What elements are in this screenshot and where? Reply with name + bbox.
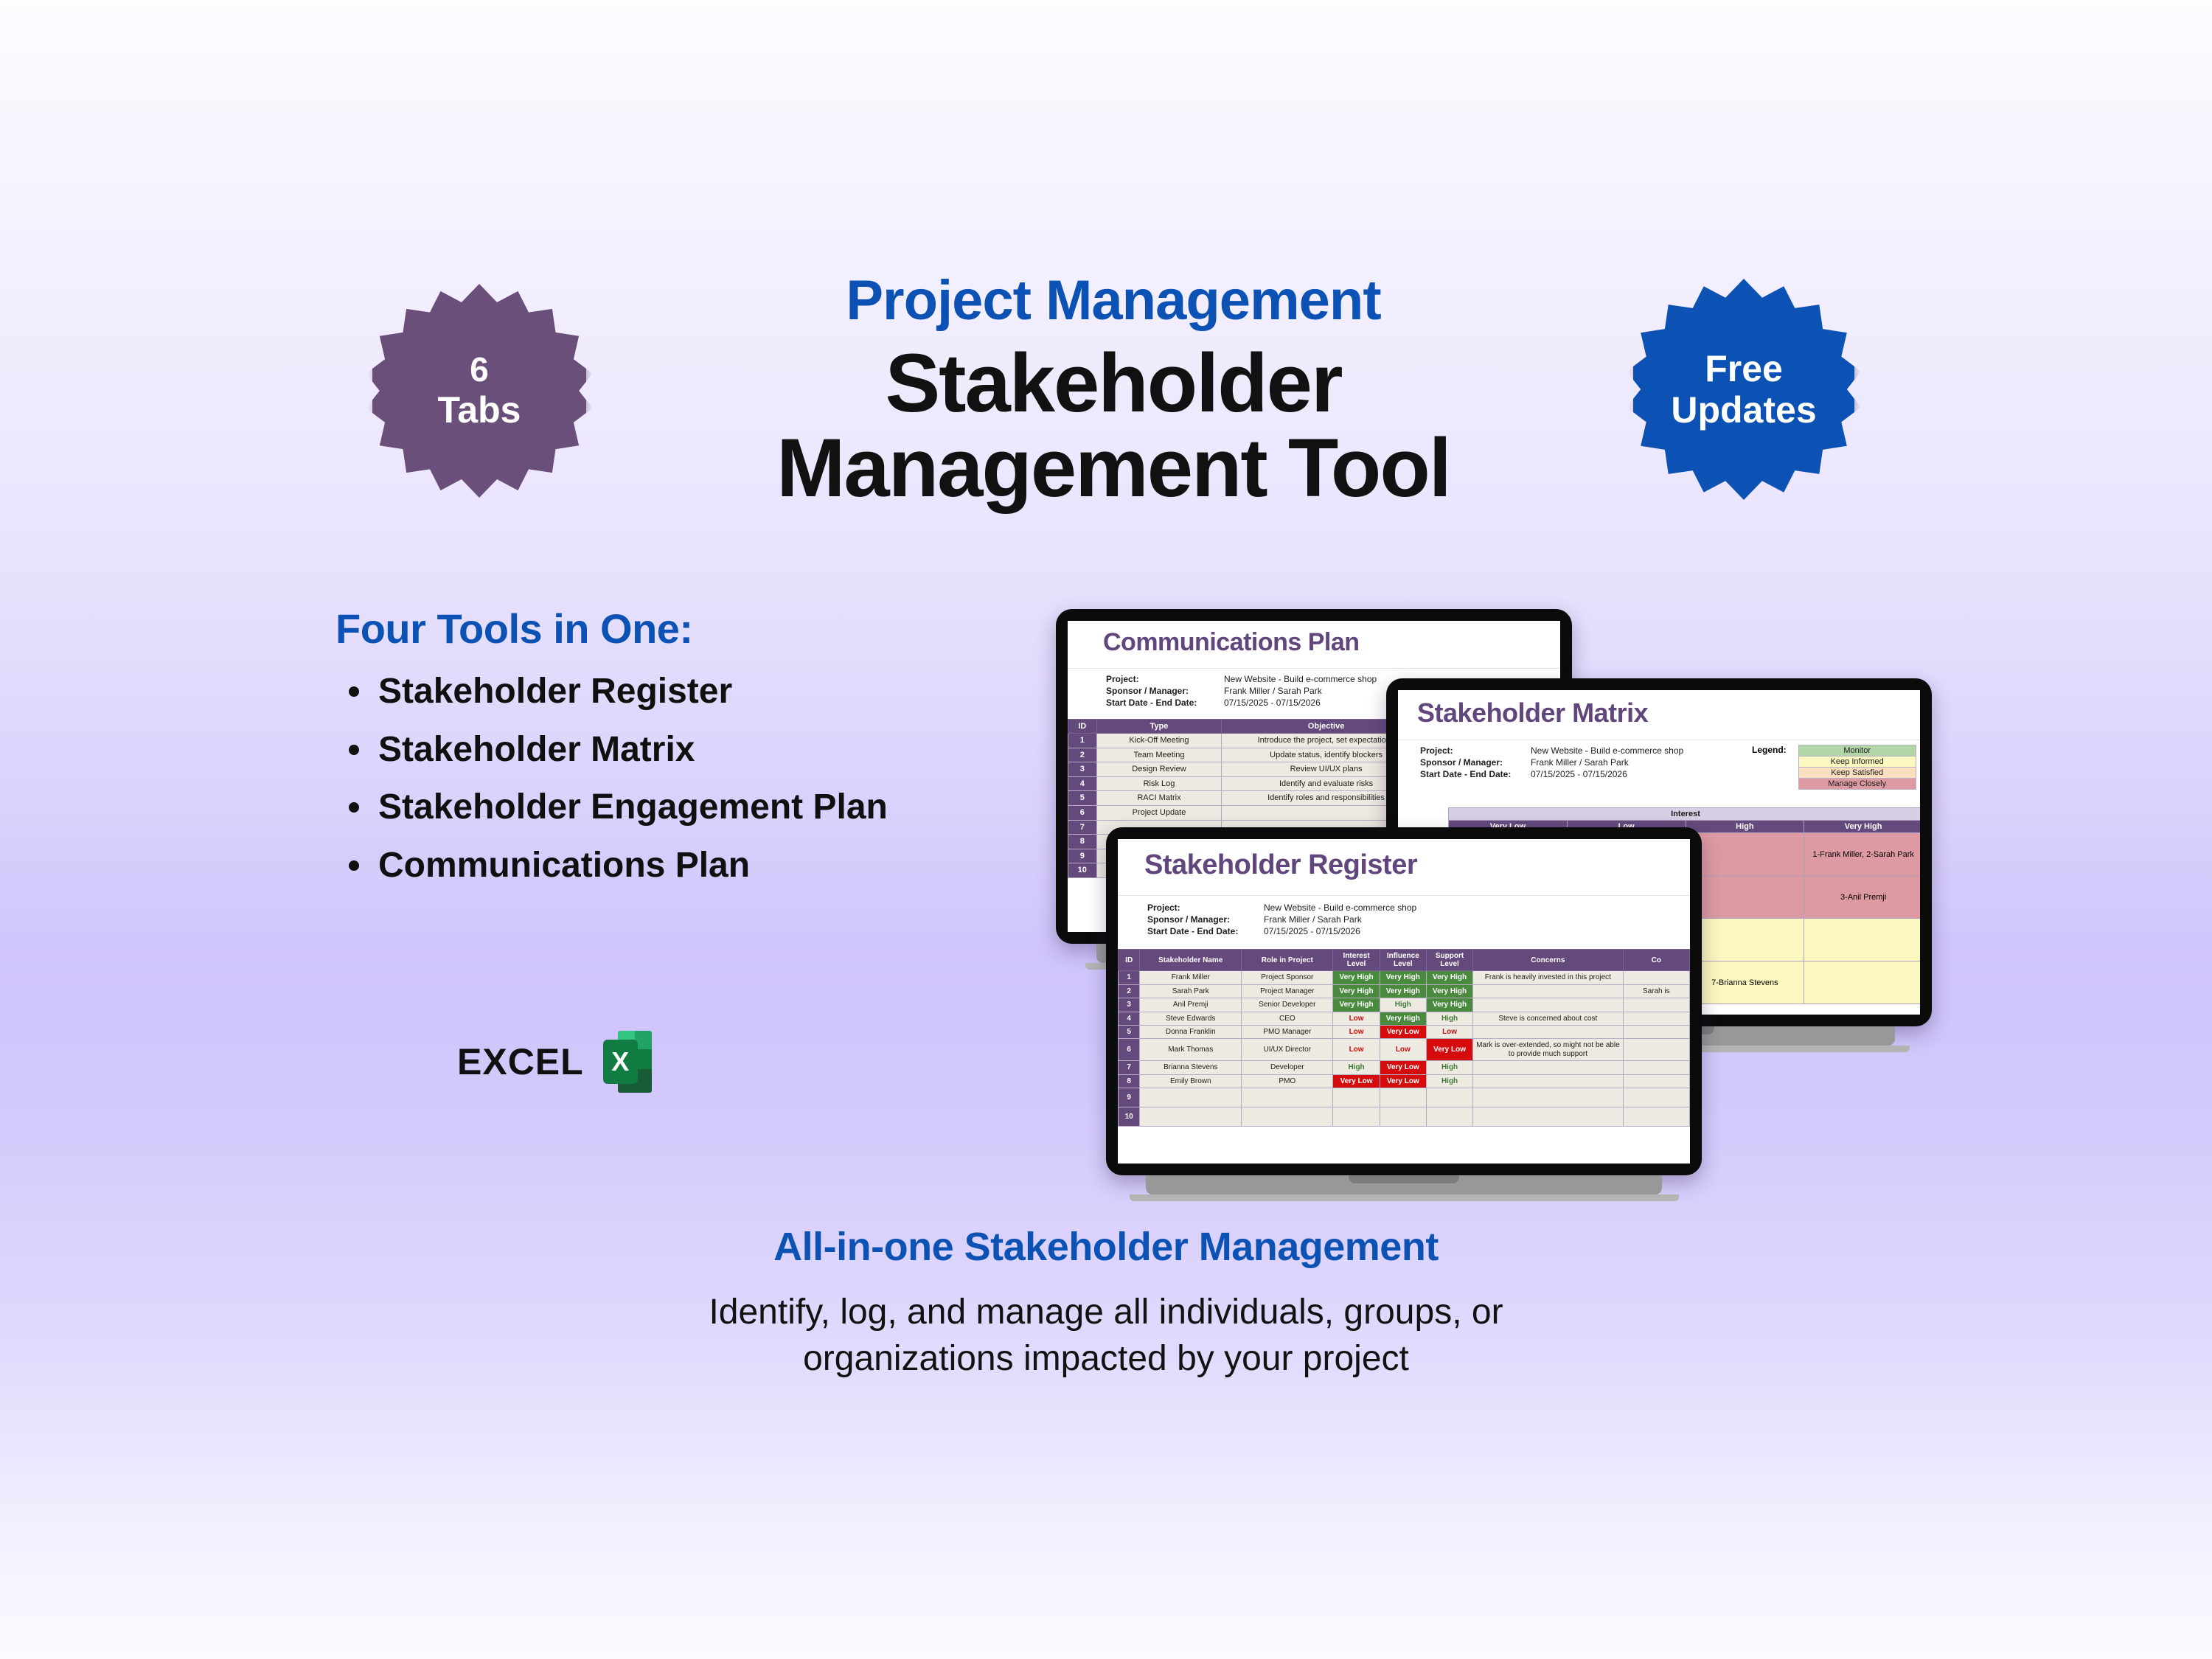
feature-label: Stakeholder Matrix: [378, 730, 695, 769]
cell-support: [1426, 1107, 1472, 1126]
badge-6-tabs: 6 Tabs: [372, 284, 586, 498]
cell-concerns: [1473, 1025, 1623, 1038]
matrix-meta: Project: New Website - Build e-commerce …: [1417, 745, 1727, 780]
cell-name: Mark Thomas: [1140, 1039, 1242, 1061]
meta-value-dates: 07/15/2025 - 07/15/2026: [1221, 697, 1380, 709]
meta-value-dates: 07/15/2025 - 07/15/2026: [1528, 768, 1727, 780]
col-concerns: Concerns: [1473, 950, 1623, 971]
cell-name: [1140, 1107, 1242, 1126]
cell-extra: [1623, 1107, 1689, 1126]
cell-extra: [1623, 1012, 1689, 1025]
cell-id: 2: [1119, 984, 1140, 998]
header-eyebrow: Project Management: [627, 273, 1600, 329]
excel-label: EXCEL: [457, 1040, 584, 1083]
badge-tabs-count: 6: [470, 351, 489, 389]
meta-label-project: Project:: [1144, 902, 1261, 914]
cell-role: PMO: [1242, 1074, 1333, 1088]
table-row: 6Mark ThomasUI/UX DirectorLowLowVery Low…: [1119, 1039, 1690, 1061]
meta-label-dates: Start Date - End Date:: [1144, 925, 1261, 937]
page-title-line1: Stakeholder: [885, 337, 1341, 429]
matrix-cell: [1686, 876, 1804, 919]
meta-value-project: New Website - Build e-commerce shop: [1528, 745, 1727, 757]
cell-influence: Very Low: [1380, 1074, 1426, 1088]
cell-type: RACI Matrix: [1096, 791, 1222, 806]
register-title: Stakeholder Register: [1118, 846, 1690, 887]
cell-interest: Very High: [1333, 998, 1380, 1012]
col-id: ID: [1119, 950, 1140, 971]
cell-role: [1242, 1088, 1333, 1107]
col-support: Support Level: [1426, 950, 1472, 971]
cell-interest: Very High: [1333, 971, 1380, 984]
badge-free-updates: Free Updates: [1633, 279, 1854, 500]
page-title-line2: Management Tool: [627, 424, 1600, 513]
cell-id: 5: [1068, 791, 1097, 806]
cell-type: Risk Log: [1096, 776, 1222, 791]
matrix-cell: [1804, 961, 1920, 1004]
meta-label-project: Project:: [1103, 673, 1221, 685]
cell-influence: [1380, 1107, 1426, 1126]
features-list: Stakeholder Register Stakeholder Matrix …: [335, 670, 1073, 887]
matrix-cell: 1-Frank Miller, 2-Sarah Park: [1804, 833, 1920, 876]
register-table: ID Stakeholder Name Role in Project Inte…: [1118, 949, 1690, 1127]
cell-concerns: [1473, 1107, 1623, 1126]
cell-support: [1426, 1088, 1472, 1107]
cell-influence: High: [1380, 998, 1426, 1012]
cell-type: Kick-Off Meeting: [1096, 734, 1222, 748]
matrix-cell: [1804, 919, 1920, 961]
excel-x-letter: X: [603, 1040, 638, 1084]
table-row: 10: [1119, 1107, 1690, 1126]
cell-id: 6: [1119, 1039, 1140, 1061]
page-title: Stakeholder Management Tool: [627, 339, 1600, 513]
laptop-base: [1146, 1175, 1662, 1194]
matrix-tick-high: High: [1686, 821, 1804, 833]
cell-concerns: [1473, 984, 1623, 998]
page-header: Project Management Stakeholder Managemen…: [627, 273, 1600, 513]
cell-id: 1: [1068, 734, 1097, 748]
cell-role: UI/UX Director: [1242, 1039, 1333, 1061]
cell-id: 9: [1119, 1088, 1140, 1107]
cell-influence: Very Low: [1380, 1061, 1426, 1074]
features-title: Four Tools in One:: [335, 605, 1073, 653]
cell-id: 8: [1068, 835, 1097, 849]
matrix-legend-label: Legend:: [1752, 745, 1787, 755]
footer-subline-2: organizations impacted by your project: [0, 1335, 2212, 1382]
cell-id: 4: [1068, 776, 1097, 791]
cell-id: 5: [1119, 1025, 1140, 1038]
cell-type: Design Review: [1096, 762, 1222, 777]
matrix-cell: [1686, 833, 1804, 876]
cell-support: Very High: [1426, 971, 1472, 984]
cell-id: 7: [1119, 1061, 1140, 1074]
cell-name: Frank Miller: [1140, 971, 1242, 984]
col-influence: Influence Level: [1380, 950, 1426, 971]
cell-support: High: [1426, 1012, 1472, 1025]
cell-extra: [1623, 1074, 1689, 1088]
cell-extra: [1623, 1039, 1689, 1061]
meta-label-dates: Start Date - End Date:: [1103, 697, 1221, 709]
badge-tabs-label: Tabs: [438, 389, 521, 431]
cell-name: Steve Edwards: [1140, 1012, 1242, 1025]
matrix-cell: 7-Brianna Stevens: [1686, 961, 1804, 1004]
legend-item-monitor: Monitor: [1798, 745, 1916, 757]
cell-concerns: [1473, 1074, 1623, 1088]
comms-plan-title: Communications Plan: [1068, 627, 1560, 661]
cell-support: High: [1426, 1074, 1472, 1088]
cell-id: 6: [1068, 805, 1097, 820]
cell-id: 3: [1068, 762, 1097, 777]
matrix-axis-x-label: Interest: [1449, 808, 1921, 821]
cell-id: 4: [1119, 1012, 1140, 1025]
meta-label-project: Project:: [1417, 745, 1528, 757]
cell-name: Anil Premji: [1140, 998, 1242, 1012]
cell-id: 10: [1119, 1107, 1140, 1126]
cell-name: Emily Brown: [1140, 1074, 1242, 1088]
cell-extra: [1623, 1088, 1689, 1107]
cell-concerns: [1473, 1088, 1623, 1107]
table-row: 2Sarah ParkProject ManagerVery HighVery …: [1119, 984, 1690, 998]
meta-label-sponsor: Sponsor / Manager:: [1144, 914, 1261, 925]
cell-support: Low: [1426, 1025, 1472, 1038]
meta-label-sponsor: Sponsor / Manager:: [1417, 757, 1528, 768]
cell-name: Brianna Stevens: [1140, 1061, 1242, 1074]
cell-influence: Very Low: [1380, 1025, 1426, 1038]
badge-updates-line2: Updates: [1671, 389, 1816, 431]
cell-interest: Very High: [1333, 984, 1380, 998]
laptop-base-shelf: [1130, 1194, 1679, 1201]
cell-support: Very High: [1426, 984, 1472, 998]
register-meta: Project: New Website - Build e-commerce …: [1144, 902, 1419, 937]
matrix-legend: Monitor Keep Informed Keep Satisfied Man…: [1798, 745, 1916, 790]
table-row: 1Frank MillerProject SponsorVery HighVer…: [1119, 971, 1690, 984]
laptop-stakeholder-register: Stakeholder Register Project: New Websit…: [1106, 827, 1702, 1201]
cell-interest: [1333, 1107, 1380, 1126]
legend-item-keep-satisfied: Keep Satisfied: [1798, 768, 1916, 779]
cell-extra: [1623, 1025, 1689, 1038]
matrix-tick-very-high: Very High: [1804, 821, 1920, 833]
list-item: Stakeholder Engagement Plan: [378, 786, 1073, 829]
table-row: 7Brianna StevensDeveloperHighVery LowHig…: [1119, 1061, 1690, 1074]
feature-label: Stakeholder Register: [378, 672, 732, 711]
cell-type: Project Update: [1096, 805, 1222, 820]
matrix-axis-row: Interest: [1415, 808, 1921, 821]
cell-influence: Very High: [1380, 984, 1426, 998]
bullet-icon: [349, 686, 359, 697]
cell-extra: Sarah is: [1623, 984, 1689, 998]
cell-influence: Very High: [1380, 1012, 1426, 1025]
bullet-icon: [349, 860, 359, 871]
cell-interest: Very Low: [1333, 1074, 1380, 1088]
badge-updates-line1: Free: [1705, 348, 1783, 389]
cell-support: High: [1426, 1061, 1472, 1074]
cell-role: Project Sponsor: [1242, 971, 1333, 984]
cell-support: Very High: [1426, 998, 1472, 1012]
meta-value-sponsor: Frank Miller / Sarah Park: [1221, 685, 1380, 697]
table-row: 3Anil PremjiSenior DeveloperVery HighHig…: [1119, 998, 1690, 1012]
cell-interest: [1333, 1088, 1380, 1107]
cell-interest: Low: [1333, 1025, 1380, 1038]
cell-id: 10: [1068, 863, 1097, 878]
cell-interest: High: [1333, 1061, 1380, 1074]
cell-role: Senior Developer: [1242, 998, 1333, 1012]
cell-influence: [1380, 1088, 1426, 1107]
feature-label: Stakeholder Engagement Plan: [378, 787, 888, 827]
legend-item-keep-informed: Keep Informed: [1798, 757, 1916, 768]
footer-section: All-in-one Stakeholder Management Identi…: [0, 1224, 2212, 1382]
meta-label-dates: Start Date - End Date:: [1417, 768, 1528, 780]
cell-name: Sarah Park: [1140, 984, 1242, 998]
feature-label: Communications Plan: [378, 846, 750, 885]
comms-plan-meta: Project: New Website - Build e-commerce …: [1103, 673, 1380, 709]
col-extra: Co: [1623, 950, 1689, 971]
cell-name: [1140, 1088, 1242, 1107]
col-name: Stakeholder Name: [1140, 950, 1242, 971]
col-interest: Interest Level: [1333, 950, 1380, 971]
table-row: 5Donna FranklinPMO ManagerLowVery LowLow: [1119, 1025, 1690, 1038]
footer-subline-1: Identify, log, and manage all individual…: [0, 1289, 2212, 1335]
table-header-row: ID Stakeholder Name Role in Project Inte…: [1119, 950, 1690, 971]
excel-badge: EXCEL X: [457, 1031, 652, 1093]
cell-type: Team Meeting: [1096, 748, 1222, 762]
cell-concerns: Steve is concerned about cost: [1473, 1012, 1623, 1025]
list-item: Stakeholder Register: [378, 670, 1073, 714]
list-item: Communications Plan: [378, 844, 1073, 888]
cell-concerns: [1473, 1061, 1623, 1074]
excel-icon: X: [603, 1031, 652, 1093]
features-section: Four Tools in One: Stakeholder Register …: [335, 605, 1073, 902]
cell-id: 7: [1068, 820, 1097, 835]
cell-interest: Low: [1333, 1039, 1380, 1061]
cell-concerns: Frank is heavily invested in this projec…: [1473, 971, 1623, 984]
cell-influence: Very High: [1380, 971, 1426, 984]
cell-extra: [1623, 971, 1689, 984]
meta-label-sponsor: Sponsor / Manager:: [1103, 685, 1221, 697]
table-row: 9: [1119, 1088, 1690, 1107]
cell-extra: [1623, 1061, 1689, 1074]
laptop-screen: Stakeholder Register Project: New Websit…: [1118, 839, 1690, 1164]
cell-role: Project Manager: [1242, 984, 1333, 998]
footer-headline: All-in-one Stakeholder Management: [0, 1224, 2212, 1270]
footer-subline: Identify, log, and manage all individual…: [0, 1289, 2212, 1382]
cell-role: [1242, 1107, 1333, 1126]
cell-id: 1: [1119, 971, 1140, 984]
cell-interest: Low: [1333, 1012, 1380, 1025]
legend-item-manage-closely: Manage Closely: [1798, 779, 1916, 790]
cell-id: 3: [1119, 998, 1140, 1012]
bullet-icon: [349, 802, 359, 813]
cell-extra: [1623, 998, 1689, 1012]
table-row: 8Emily BrownPMOVery LowVery LowHigh: [1119, 1074, 1690, 1088]
meta-value-sponsor: Frank Miller / Sarah Park: [1261, 914, 1419, 925]
cell-concerns: [1473, 998, 1623, 1012]
matrix-axis-corner: [1415, 808, 1449, 821]
matrix-cell: 3-Anil Premji: [1804, 876, 1920, 919]
bullet-icon: [349, 745, 359, 755]
cell-role: CEO: [1242, 1012, 1333, 1025]
list-item: Stakeholder Matrix: [378, 728, 1073, 772]
col-role: Role in Project: [1242, 950, 1333, 971]
meta-value-project: New Website - Build e-commerce shop: [1261, 902, 1419, 914]
matrix-title: Stakeholder Matrix: [1398, 696, 1920, 733]
cell-role: PMO Manager: [1242, 1025, 1333, 1038]
meta-value-sponsor: Frank Miller / Sarah Park: [1528, 757, 1727, 768]
col-id: ID: [1068, 720, 1097, 734]
meta-value-dates: 07/15/2025 - 07/15/2026: [1261, 925, 1419, 937]
cell-support: Very Low: [1426, 1039, 1472, 1061]
cell-id: 8: [1119, 1074, 1140, 1088]
cell-influence: Low: [1380, 1039, 1426, 1061]
matrix-cell: [1686, 919, 1804, 961]
cell-role: Developer: [1242, 1061, 1333, 1074]
cell-id: 2: [1068, 748, 1097, 762]
cell-name: Donna Franklin: [1140, 1025, 1242, 1038]
cell-id: 9: [1068, 849, 1097, 863]
laptop-lid: Stakeholder Register Project: New Websit…: [1106, 827, 1702, 1175]
cell-concerns: Mark is over-extended, so might not be a…: [1473, 1039, 1623, 1061]
meta-value-project: New Website - Build e-commerce shop: [1221, 673, 1380, 685]
table-row: 4Steve EdwardsCEOLowVery HighHighSteve i…: [1119, 1012, 1690, 1025]
col-type: Type: [1096, 720, 1222, 734]
